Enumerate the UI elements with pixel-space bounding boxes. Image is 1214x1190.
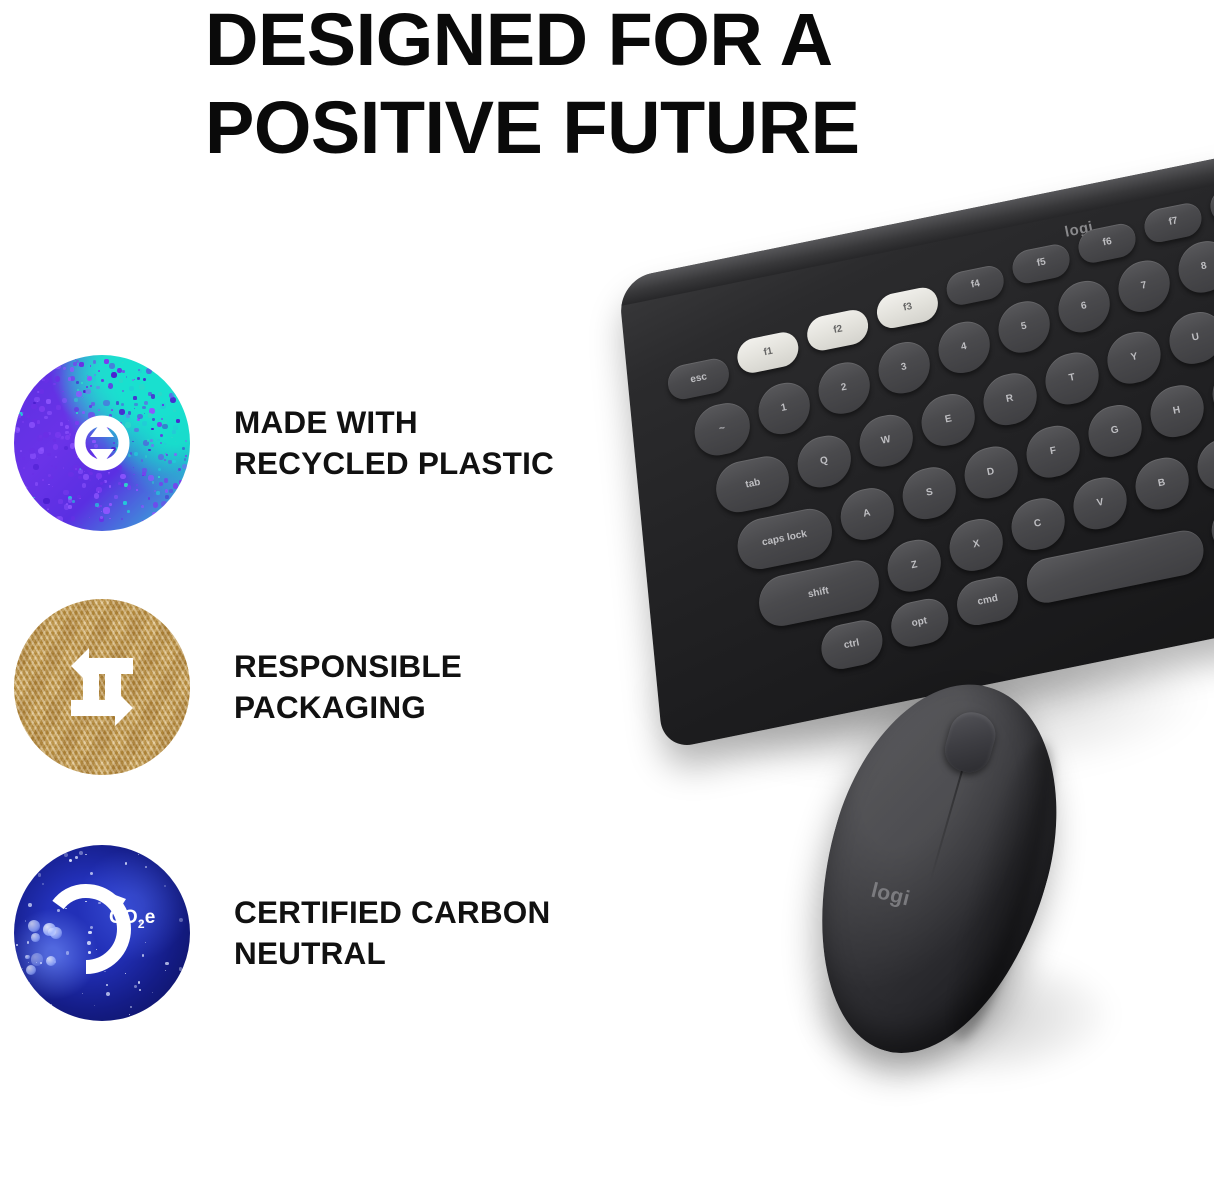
keyboard-key: X [947, 514, 1005, 575]
keyboard-key: f4 [945, 263, 1005, 308]
key-label: f1 [762, 347, 773, 359]
keyboard-key: 7 [1116, 256, 1172, 316]
keyboard-key: f8 [1209, 180, 1214, 225]
key-label: Z [910, 560, 918, 572]
keyboard-key: S [900, 463, 958, 524]
key-label: V [1096, 498, 1105, 510]
headline-line-1: DESIGNED FOR A [205, 0, 1105, 84]
co2e-text: CO [109, 907, 138, 928]
page-title: DESIGNED FOR A POSITIVE FUTURE [205, 0, 1105, 172]
key-label: H [1173, 405, 1182, 417]
co2e-label: CO2e [109, 907, 156, 931]
keyboard-key: J [1210, 361, 1214, 422]
keyboard-key: opt [889, 595, 950, 651]
mouse-brand-logo: logi [869, 879, 913, 912]
mouse-scroll-wheel [940, 707, 1001, 777]
keyboard-key: 8 [1176, 237, 1214, 297]
key-label: W [881, 435, 892, 447]
keyboard-key: D [962, 442, 1020, 503]
keyboard-key: cmd [1210, 498, 1214, 554]
keyboard-key: T [1043, 348, 1101, 409]
key-label: esc [689, 372, 707, 386]
key-label: Q [819, 456, 829, 468]
keyboard-key: 2 [816, 358, 872, 418]
recycle-loop-icon [14, 355, 190, 531]
keyboard-key: Z [885, 535, 943, 596]
key-label: S [925, 487, 934, 499]
feature-label: MADE WITH RECYCLED PLASTIC [234, 402, 554, 484]
key-label: R [1006, 393, 1015, 405]
key-label: f7 [1168, 217, 1179, 229]
promo-image-canvas: DESIGNED FOR A POSITIVE FUTURE [0, 0, 1214, 1190]
key-label: 8 [1200, 261, 1208, 272]
key-label: f3 [902, 302, 913, 314]
co2e-subscript: 2 [138, 917, 145, 931]
keyboard-key: tab [714, 452, 791, 517]
keyboard-key: f7 [1143, 200, 1203, 245]
key-label: G [1110, 425, 1120, 437]
product-photo: logi escf1f2f3f4f5f6f7f8f9~1234567890tab… [600, 250, 1214, 1190]
key-label: Y [1130, 352, 1139, 364]
keyboard-key: G [1086, 401, 1144, 462]
keyboard-key: 4 [936, 317, 992, 377]
keyboard-key: V [1071, 473, 1129, 534]
key-label: cmd [976, 594, 998, 608]
key-label: 2 [840, 382, 848, 393]
keyboard-key: ctrl [819, 616, 884, 672]
key-label: f4 [970, 279, 981, 291]
key-label: ctrl [843, 638, 860, 651]
key-label: B [1158, 478, 1167, 490]
key-label: shift [808, 586, 831, 600]
keyboard-key: F [1024, 421, 1082, 482]
key-label: opt [911, 616, 928, 629]
key-label: U [1191, 332, 1200, 344]
key-label: T [1068, 373, 1076, 385]
co2e-suffix: e [145, 907, 156, 928]
keyboard-key: 6 [1056, 276, 1112, 336]
key-label: 3 [900, 362, 908, 373]
keyboard-key: caps lock [735, 504, 834, 573]
keyboard-key: E [919, 390, 977, 451]
key-label: A [863, 508, 872, 520]
keyboard-key: W [857, 410, 915, 471]
keyboard-key: Q [795, 431, 853, 492]
keyboard-key: 5 [996, 297, 1052, 357]
keyboard-key: U [1167, 308, 1214, 369]
keyboard-key: f2 [806, 307, 870, 353]
key-label: F [1049, 446, 1057, 458]
certified-carbon-neutral-badge-icon: CO2e [14, 845, 190, 1021]
feature-label: CERTIFIED CARBON NEUTRAL [234, 892, 550, 974]
key-label: ~ [718, 423, 726, 434]
key-label: f5 [1036, 258, 1047, 270]
key-label: E [944, 414, 953, 426]
keyboard-key: A [838, 484, 896, 545]
feature-certified-carbon-neutral: CO2e CERTIFIED CARBON NEUTRAL [0, 838, 640, 1028]
keyboard-key: f1 [736, 329, 800, 375]
key-label: 6 [1080, 301, 1088, 312]
keyboard-key: f6 [1077, 221, 1137, 266]
key-label: caps lock [761, 529, 808, 548]
keyboard-key: f3 [875, 285, 939, 331]
key-label: f6 [1102, 237, 1113, 249]
keyboard-key: esc [666, 356, 730, 402]
key-label: 1 [780, 403, 788, 414]
keyboard-key: Y [1105, 327, 1163, 388]
recycled-plastic-badge-icon [14, 355, 190, 531]
keyboard-key: C [1009, 494, 1067, 555]
headline-line-2: POSITIVE FUTURE [205, 84, 1105, 172]
carbon-c-arrow-icon [14, 845, 190, 1021]
keyboard-key: 3 [876, 337, 932, 397]
key-label: 4 [960, 342, 968, 353]
feature-recycled-plastic: MADE WITH RECYCLED PLASTIC [0, 348, 640, 538]
key-label: tab [744, 478, 761, 491]
keyboard-key: 1 [756, 378, 812, 438]
keyboard-key: B [1133, 453, 1191, 514]
keyboard-key: N [1195, 433, 1214, 494]
keyboard-key: ~ [692, 399, 752, 460]
feature-label: RESPONSIBLE PACKAGING [234, 646, 462, 728]
responsible-packaging-badge-icon [14, 599, 190, 775]
keyboard-key: cmd [955, 573, 1020, 629]
feature-responsible-packaging: RESPONSIBLE PACKAGING [0, 592, 640, 782]
key-label: X [972, 539, 981, 551]
key-label: C [1034, 518, 1043, 530]
keyboard-key: R [981, 369, 1039, 430]
square-recycle-arrows-icon [14, 599, 190, 775]
key-label: 7 [1140, 281, 1148, 292]
key-label: D [987, 467, 996, 479]
key-label: f2 [832, 324, 843, 336]
keyboard-key: H [1148, 381, 1206, 442]
keyboard-key: f5 [1011, 242, 1071, 287]
key-label: 5 [1020, 321, 1028, 332]
